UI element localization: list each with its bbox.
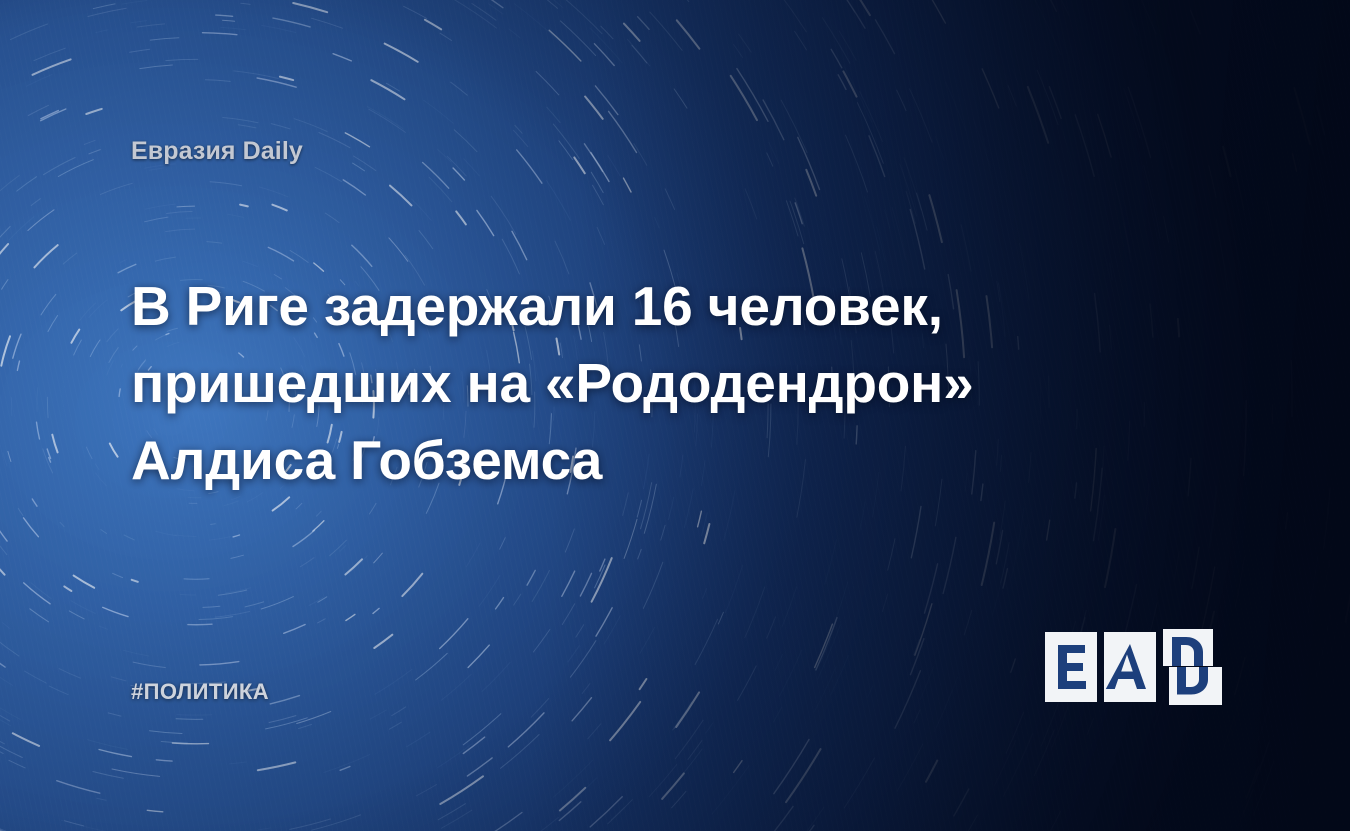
social-share-card: Евразия Daily В Риге задержали 16 челове…: [0, 0, 1350, 831]
brand-wordmark: Евразия Daily: [131, 137, 303, 166]
page-title: В Риге задержали 16 человек, пришедших н…: [131, 268, 1191, 499]
logo-tile-a: [1104, 632, 1156, 702]
eadaily-logo: [1044, 629, 1224, 705]
logo-tile-d-top: [1163, 629, 1213, 666]
logo-tile-d-bottom: [1169, 667, 1222, 705]
rubric-tag: #ПОЛИТИКА: [131, 679, 269, 705]
logo-tile-e: [1045, 632, 1097, 702]
